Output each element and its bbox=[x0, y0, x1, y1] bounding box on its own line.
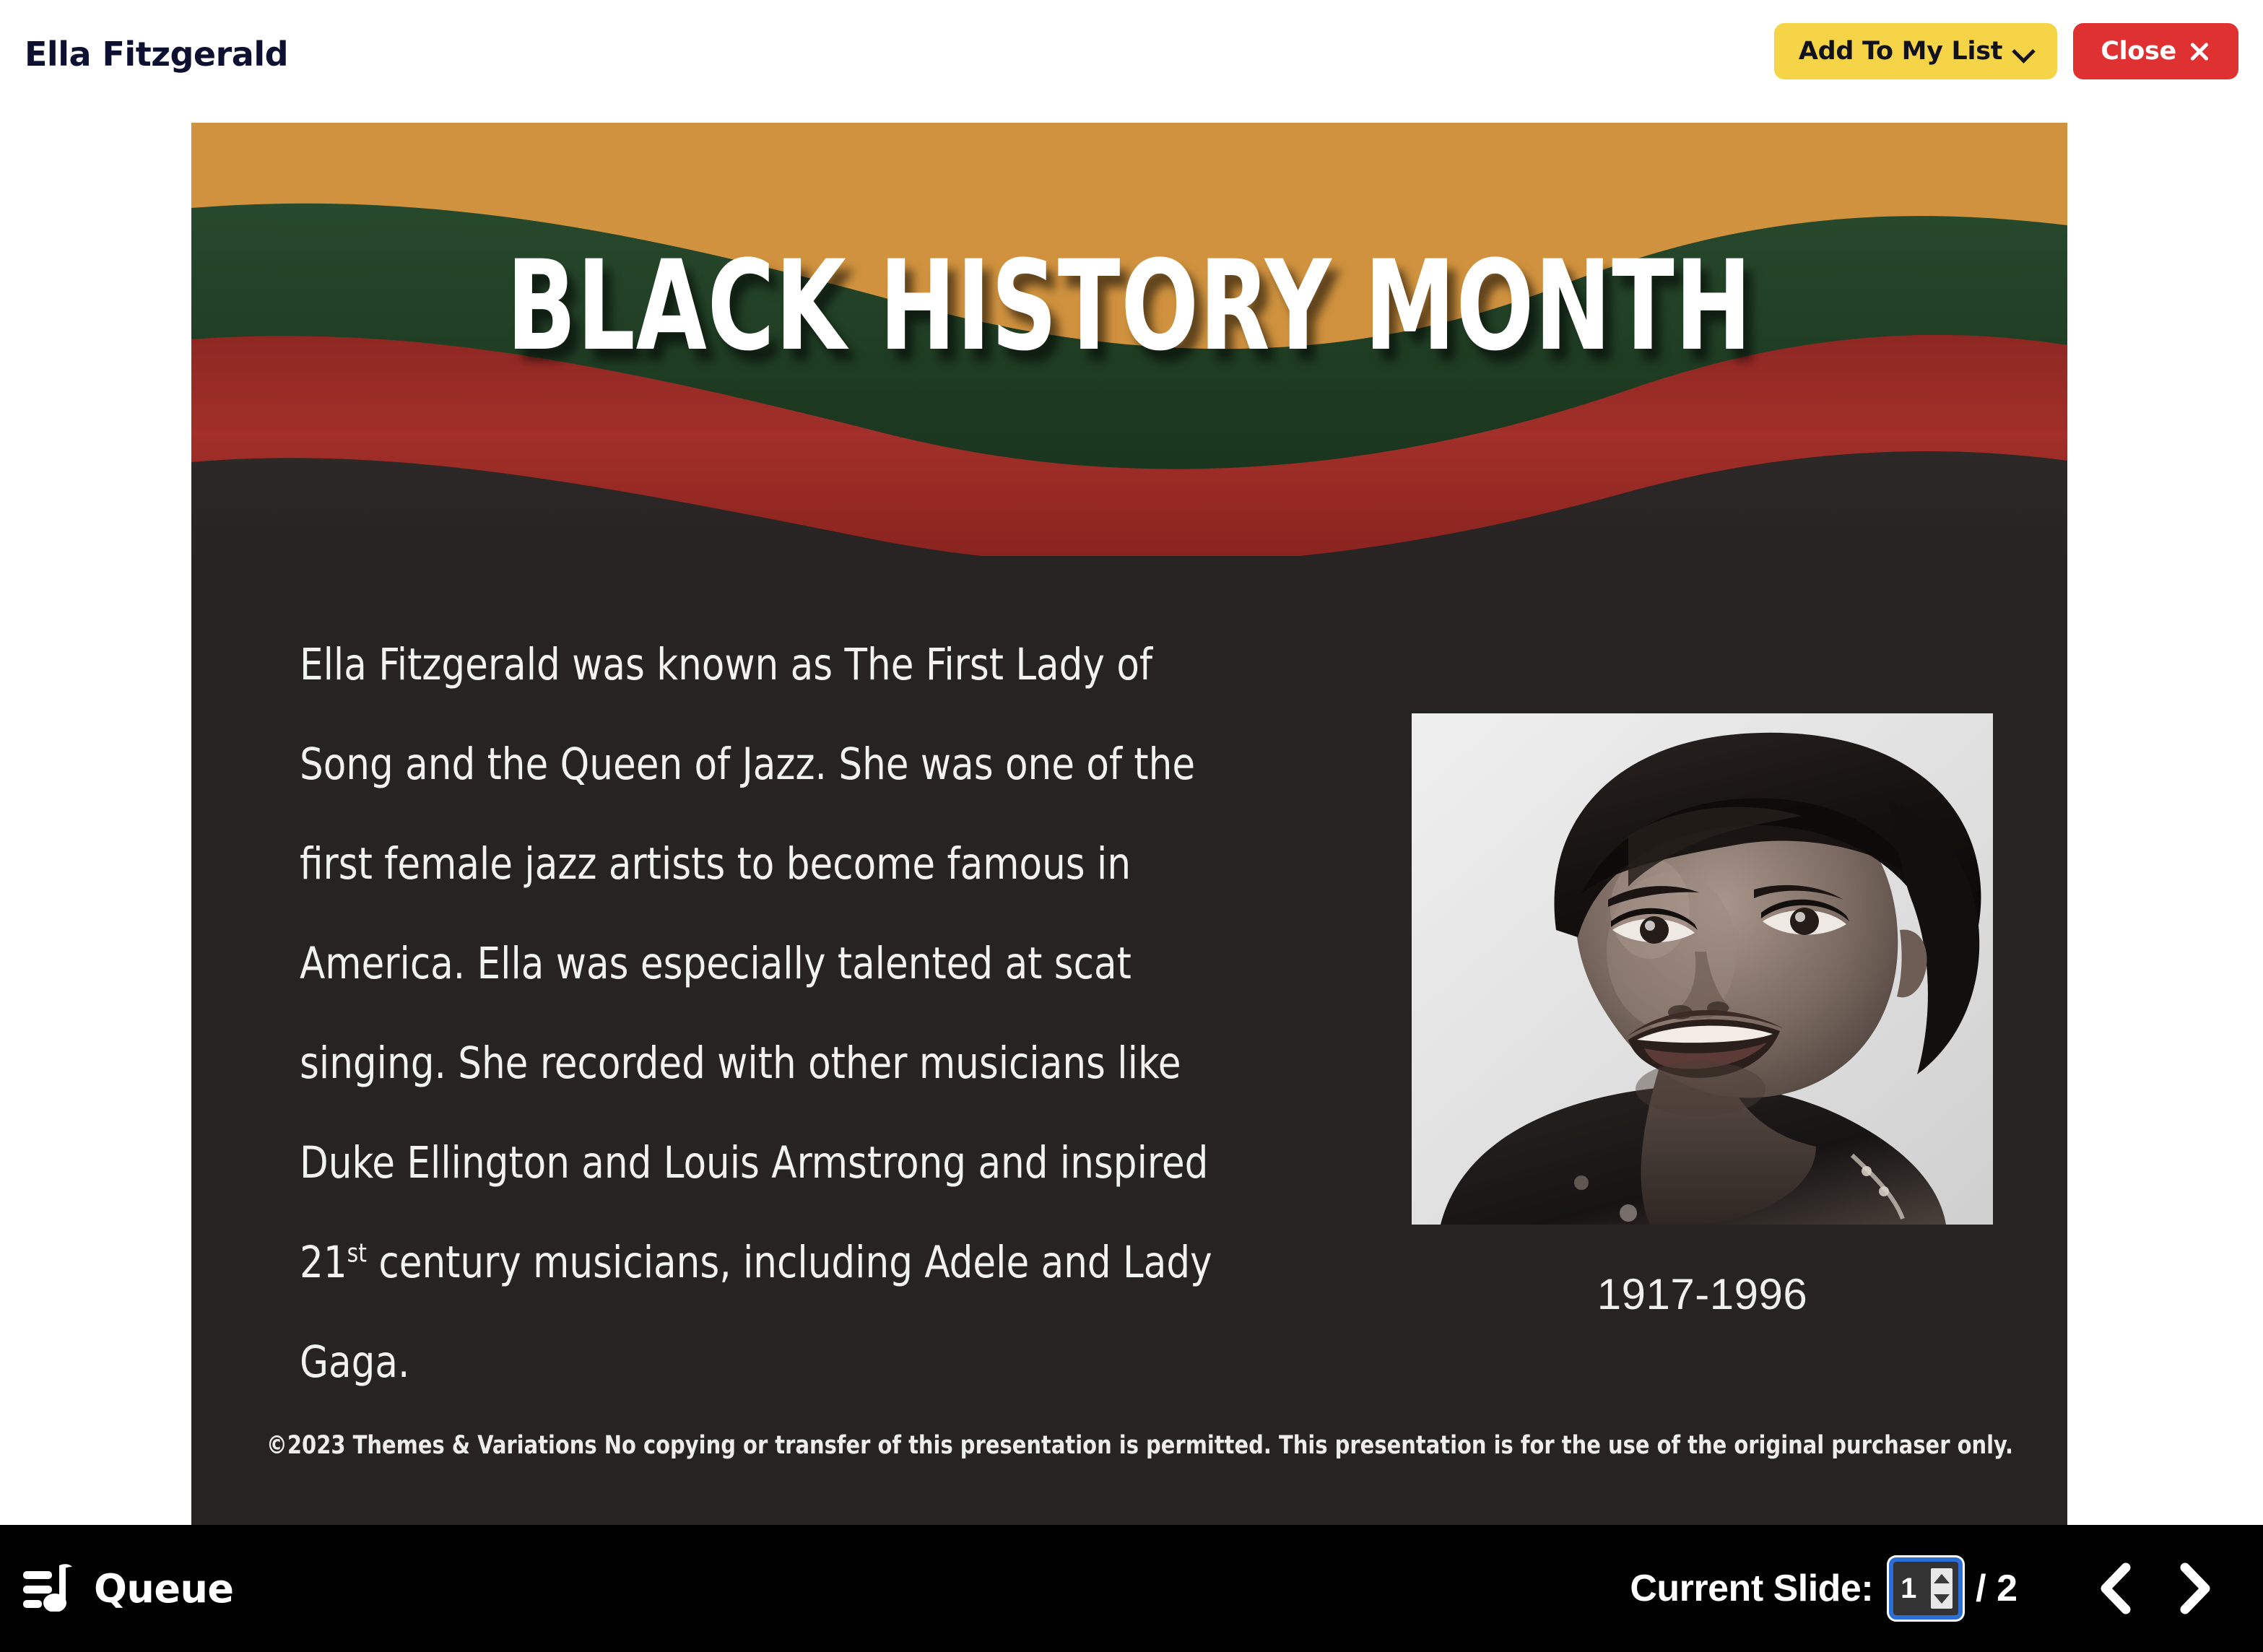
stepper-up-icon[interactable] bbox=[1934, 1574, 1950, 1583]
current-slide-label: Current Slide: bbox=[1630, 1567, 1873, 1610]
page-title: Ella Fitzgerald bbox=[25, 35, 288, 74]
slide-number-stepper[interactable] bbox=[1931, 1568, 1953, 1609]
close-button[interactable]: Close bbox=[2073, 23, 2238, 79]
add-to-my-list-label: Add To My List bbox=[1799, 37, 2002, 66]
close-icon bbox=[2188, 40, 2211, 63]
slide-stage: BLACK HISTORY MONTH Ella Fitzgerald was … bbox=[0, 123, 2263, 1525]
bio-line-1: Ella Fitzgerald was known as The First L… bbox=[300, 639, 1152, 690]
top-bar-actions: Add To My List Close bbox=[1774, 23, 2238, 79]
queue-button[interactable]: Queue bbox=[22, 1562, 234, 1615]
portrait-photo bbox=[1412, 713, 1993, 1225]
chevron-right-icon bbox=[2175, 1562, 2214, 1615]
ella-fitzgerald-portrait bbox=[1412, 713, 1993, 1225]
queue-label: Queue bbox=[94, 1566, 234, 1612]
chevron-left-icon bbox=[2095, 1562, 2134, 1615]
bio-line-7-ordinal-suffix: st bbox=[347, 1239, 367, 1269]
banner-title: BLACK HISTORY MONTH bbox=[360, 244, 1898, 368]
bio-line-4: America. Ella was especially talented at… bbox=[300, 938, 1131, 989]
close-label: Close bbox=[2101, 37, 2176, 66]
current-slide-value: 1 bbox=[1901, 1574, 1931, 1603]
bottom-bar: Queue Current Slide: 1 / 2 bbox=[0, 1525, 2263, 1652]
queue-music-icon bbox=[22, 1562, 74, 1615]
previous-slide-button[interactable] bbox=[2075, 1549, 2155, 1628]
biography-text: Ella Fitzgerald was known as The First L… bbox=[300, 615, 1318, 1412]
next-slide-button[interactable] bbox=[2155, 1549, 2234, 1628]
presentation-viewer: Ella Fitzgerald Add To My List Close bbox=[0, 0, 2263, 1652]
slide-total-label: / 2 bbox=[1976, 1567, 2017, 1610]
bio-line-2: Song and the Queen of Jazz. She was one … bbox=[300, 739, 1195, 790]
slide-body: Ella Fitzgerald was known as The First L… bbox=[191, 556, 2067, 1525]
stepper-down-icon[interactable] bbox=[1934, 1594, 1950, 1604]
slide-canvas[interactable]: BLACK HISTORY MONTH Ella Fitzgerald was … bbox=[191, 123, 2067, 1525]
top-bar: Ella Fitzgerald Add To My List Close bbox=[0, 0, 2263, 123]
chevron-down-icon bbox=[2014, 42, 2033, 61]
bio-line-8: Gaga. bbox=[300, 1336, 409, 1388]
bio-line-3: first female jazz artists to become famo… bbox=[300, 838, 1131, 890]
current-slide-input[interactable]: 1 bbox=[1889, 1557, 1963, 1620]
portrait-block: 1917-1996 bbox=[1412, 713, 2004, 1319]
slide-navigation: Current Slide: 1 / 2 bbox=[1630, 1549, 2234, 1628]
copyright-notice: ©2023 Themes & Variations No copying or … bbox=[266, 1431, 1992, 1460]
bio-line-7-number: 21 bbox=[300, 1237, 347, 1288]
add-to-my-list-button[interactable]: Add To My List bbox=[1774, 23, 2057, 79]
bio-line-6: Duke Ellington and Louis Armstrong and i… bbox=[300, 1137, 1208, 1188]
bio-line-5: singing. She recorded with other musicia… bbox=[300, 1038, 1181, 1089]
portrait-caption: 1917-1996 bbox=[1412, 1269, 1993, 1319]
bio-line-7-rest: century musicians, including Adele and L… bbox=[367, 1237, 1212, 1288]
black-history-month-banner: BLACK HISTORY MONTH bbox=[191, 123, 2067, 556]
